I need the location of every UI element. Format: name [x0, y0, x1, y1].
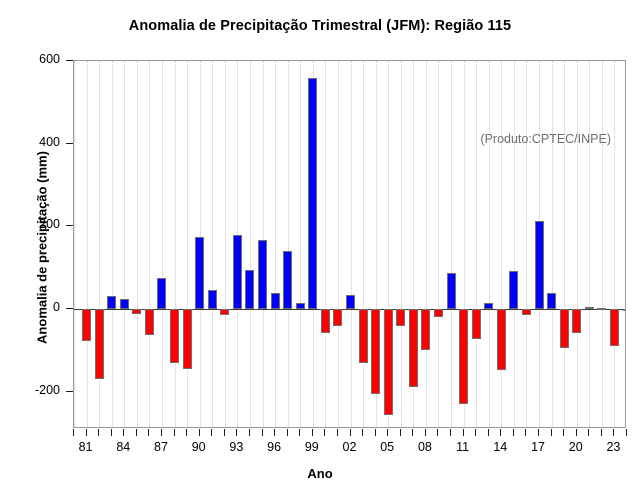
x-tick-1982	[98, 429, 99, 436]
x-tick-label-23: 23	[593, 440, 633, 454]
bar-95	[258, 240, 267, 309]
gridline-2014	[501, 61, 503, 427]
y-tick-0	[66, 308, 73, 309]
bar-18	[547, 293, 556, 309]
gridline-2013	[489, 61, 491, 427]
x-tick-1981	[86, 429, 87, 436]
y-tick-600	[66, 60, 73, 61]
y-tick-label-0: 0	[0, 301, 60, 314]
bar-03	[359, 309, 368, 363]
bar-16	[522, 309, 531, 315]
x-tick-1993	[236, 429, 237, 436]
gridline-2018	[552, 61, 554, 427]
x-tick-label-08: 08	[405, 440, 445, 454]
x-tick-1998	[299, 429, 300, 436]
x-tick-1980	[73, 429, 74, 436]
x-tick-2024	[626, 429, 627, 436]
x-tick-2023	[613, 429, 614, 436]
bar-02	[346, 295, 355, 309]
gridline-2001	[338, 61, 340, 427]
bar-96	[271, 293, 280, 309]
x-tick-label-11: 11	[443, 440, 483, 454]
bar-94	[245, 270, 254, 309]
product-annotation: (Produto:CPTEC/INPE)	[480, 132, 611, 146]
bar-90	[195, 237, 204, 309]
x-tick-1996	[274, 429, 275, 436]
x-tick-2022	[601, 429, 602, 436]
gridline-1996	[275, 61, 277, 427]
x-tick-2013	[488, 429, 489, 436]
chart-figure: Anomalia de Precipitação Trimestral (JFM…	[0, 0, 640, 500]
gridline-1985	[137, 61, 139, 427]
x-tick-1987	[161, 429, 162, 436]
x-tick-2000	[324, 429, 325, 436]
y-tick-400	[66, 143, 73, 144]
x-tick-2018	[551, 429, 552, 436]
bar-88	[170, 309, 179, 363]
gridline-1988	[175, 61, 177, 427]
bar-19	[560, 309, 569, 348]
x-tick-2008	[425, 429, 426, 436]
bar-21	[585, 307, 594, 309]
x-tick-2020	[576, 429, 577, 436]
gridline-2012	[476, 61, 478, 427]
bar-10	[447, 273, 456, 309]
gridline-2009	[438, 61, 440, 427]
bar-14	[497, 309, 506, 370]
page-title: Anomalia de Precipitação Trimestral (JFM…	[0, 18, 640, 34]
bar-11	[459, 309, 468, 404]
x-tick-1983	[111, 429, 112, 436]
gridline-2006	[401, 61, 403, 427]
x-tick-2002	[350, 429, 351, 436]
bar-06	[396, 309, 405, 326]
gridline-2003	[363, 61, 365, 427]
x-tick-label-87: 87	[141, 440, 181, 454]
x-tick-1990	[199, 429, 200, 436]
bar-20	[572, 309, 581, 333]
x-tick-2016	[525, 429, 526, 436]
bar-89	[183, 309, 192, 369]
gridline-2008	[426, 61, 428, 427]
gridline-1984	[124, 61, 126, 427]
gridline-2022	[602, 61, 604, 427]
gridline-1997	[288, 61, 290, 427]
x-tick-2010	[450, 429, 451, 436]
x-tick-2005	[387, 429, 388, 436]
x-tick-label-17: 17	[518, 440, 558, 454]
x-tick-2009	[437, 429, 438, 436]
x-tick-label-05: 05	[367, 440, 407, 454]
x-tick-1986	[148, 429, 149, 436]
bar-17	[535, 221, 544, 309]
x-axis-label: Ano	[0, 466, 640, 481]
y-tick-label-400: 400	[0, 136, 60, 149]
x-tick-2012	[475, 429, 476, 436]
x-tick-1997	[287, 429, 288, 436]
x-tick-label-81: 81	[66, 440, 106, 454]
bar-87	[157, 278, 166, 309]
bar-84	[120, 299, 129, 309]
bar-92	[220, 309, 229, 315]
gridline-1991	[212, 61, 214, 427]
x-tick-2011	[463, 429, 464, 436]
bar-13	[484, 303, 493, 309]
x-tick-2015	[513, 429, 514, 436]
zero-baseline	[74, 309, 625, 310]
bar-01	[333, 309, 342, 326]
x-tick-label-93: 93	[216, 440, 256, 454]
x-tick-2007	[412, 429, 413, 436]
bar-85	[132, 309, 141, 314]
bar-83	[107, 296, 116, 309]
x-tick-1988	[174, 429, 175, 436]
bar-05	[384, 309, 393, 414]
x-tick-1985	[136, 429, 137, 436]
bar-99	[308, 78, 317, 310]
gridline-2000	[325, 61, 327, 427]
x-tick-1989	[186, 429, 187, 436]
x-tick-label-14: 14	[480, 440, 520, 454]
x-tick-1995	[262, 429, 263, 436]
gridline-1983	[112, 61, 114, 427]
gridline-2010	[451, 61, 453, 427]
gridline-1989	[187, 61, 189, 427]
x-tick-2006	[400, 429, 401, 436]
bar-22	[597, 308, 606, 310]
y-tick-label--200: -200	[0, 384, 60, 397]
y-tick--200	[66, 391, 73, 392]
x-tick-2019	[563, 429, 564, 436]
gridline-1986	[149, 61, 151, 427]
x-tick-1994	[249, 429, 250, 436]
plot-area: (Produto:CPTEC/INPE)	[73, 60, 626, 428]
bar-86	[145, 309, 154, 335]
bar-12	[472, 309, 481, 339]
x-tick-label-90: 90	[179, 440, 219, 454]
bar-24	[623, 309, 627, 311]
x-tick-2001	[337, 429, 338, 436]
gridline-1987	[162, 61, 164, 427]
x-tick-2017	[538, 429, 539, 436]
x-tick-label-99: 99	[292, 440, 332, 454]
bar-81	[82, 309, 91, 341]
x-tick-1992	[224, 429, 225, 436]
bar-98	[296, 303, 305, 309]
x-tick-1999	[312, 429, 313, 436]
gridline-1998	[300, 61, 302, 427]
x-tick-1984	[123, 429, 124, 436]
x-tick-2003	[362, 429, 363, 436]
gridline-1994	[250, 61, 252, 427]
bar-07	[409, 309, 418, 387]
bar-91	[208, 290, 217, 309]
bar-15	[509, 271, 518, 309]
gridline-2019	[564, 61, 566, 427]
y-tick-label-600: 600	[0, 53, 60, 66]
gridline-1992	[225, 61, 227, 427]
bar-82	[95, 309, 104, 379]
bar-00	[321, 309, 330, 333]
gridline-2020	[577, 61, 579, 427]
x-tick-1991	[211, 429, 212, 436]
gridline-2023	[614, 61, 616, 427]
bar-97	[283, 251, 292, 309]
bar-23	[610, 309, 619, 346]
x-tick-2014	[500, 429, 501, 436]
bar-08	[421, 309, 430, 350]
gridline-2016	[526, 61, 528, 427]
gridline-1980	[74, 61, 76, 427]
y-tick-label-200: 200	[0, 218, 60, 231]
x-tick-2021	[588, 429, 589, 436]
x-tick-2004	[375, 429, 376, 436]
bar-09	[434, 309, 443, 317]
x-tick-label-02: 02	[330, 440, 370, 454]
x-tick-label-20: 20	[556, 440, 596, 454]
x-tick-label-96: 96	[254, 440, 294, 454]
bar-93	[233, 235, 242, 309]
y-tick-200	[66, 225, 73, 226]
gridline-2002	[351, 61, 353, 427]
gridline-1981	[87, 61, 89, 427]
x-tick-label-84: 84	[103, 440, 143, 454]
gridline-2021	[589, 61, 591, 427]
bar-04	[371, 309, 380, 394]
gridline-2015	[514, 61, 516, 427]
